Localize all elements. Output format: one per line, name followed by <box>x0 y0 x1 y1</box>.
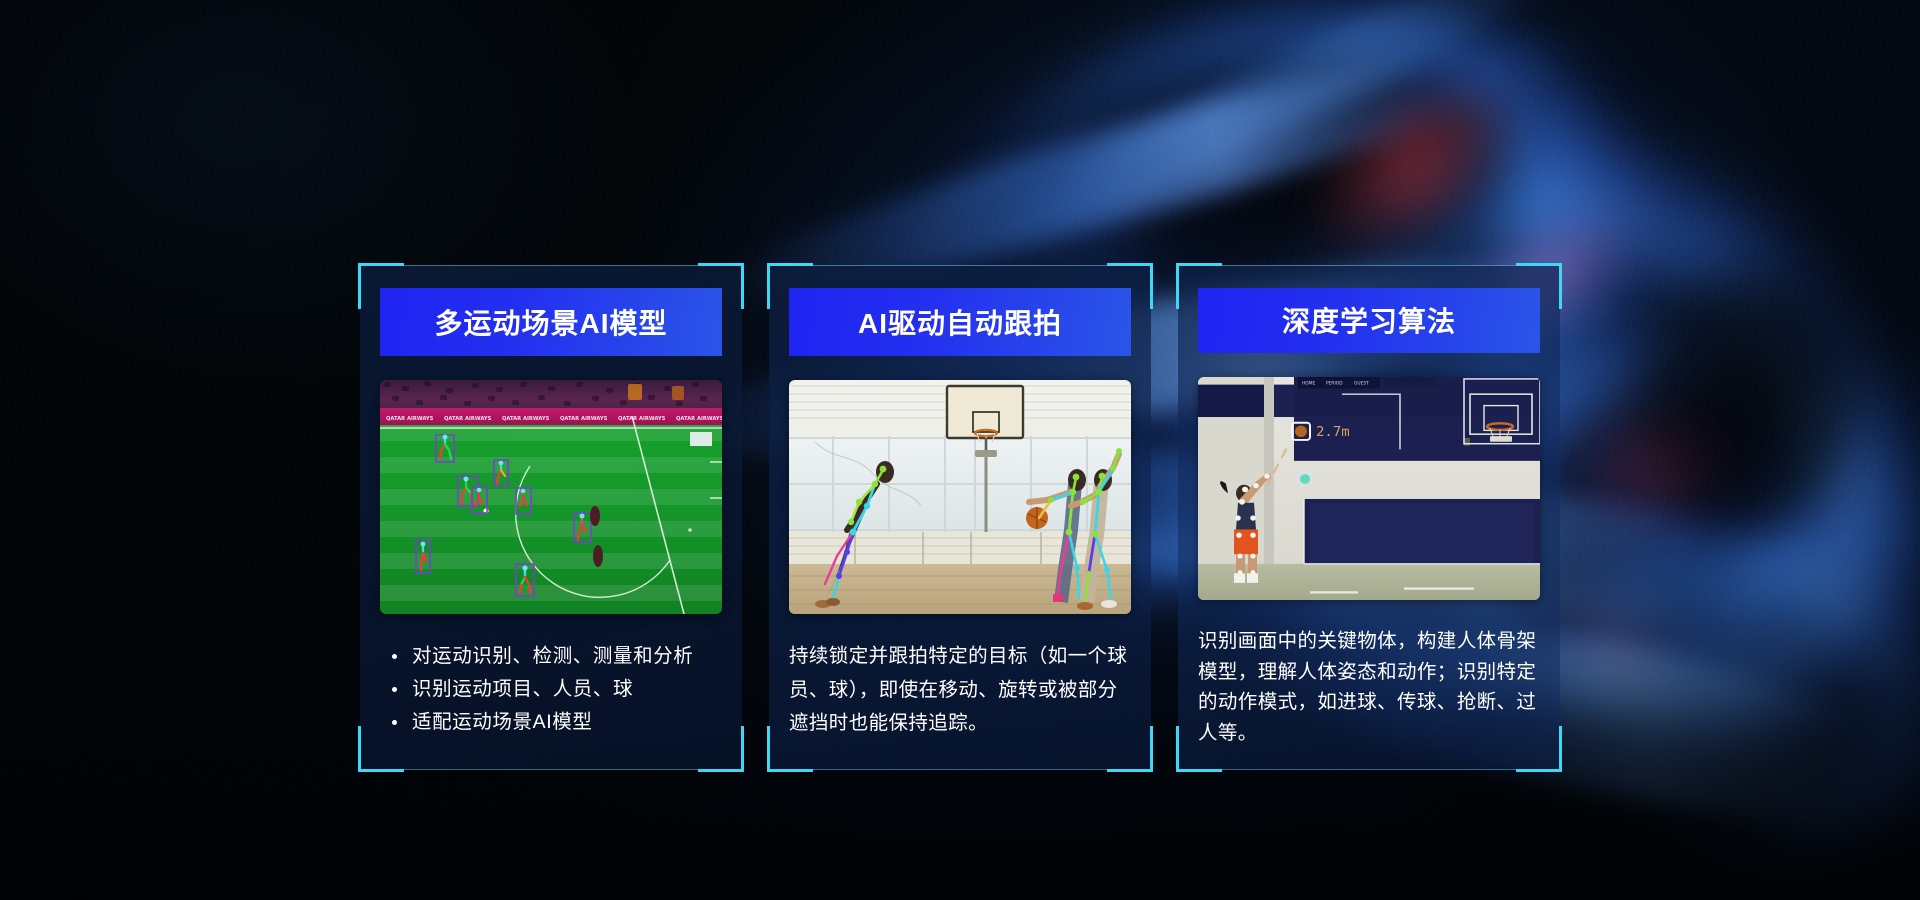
basketball-gym-skeleton-thumbnail[interactable] <box>789 380 1131 614</box>
capability-description: 识别画面中的关键物体，构建人体骨架模型，理解人体姿态和动作；识别特定的动作模式，… <box>1198 626 1540 749</box>
shot-tracking-measurement-thumbnail[interactable]: HOMEPERIODGUEST <box>1198 377 1540 600</box>
card-title-banner: 多运动场景AI模型 <box>380 288 722 356</box>
soccer-pose-detection-thumbnail[interactable]: QATAR AIRWAYS QATAR AIRWAYS QATAR AIRWAY… <box>380 380 722 614</box>
card-title-banner: 深度学习算法 <box>1198 288 1540 353</box>
list-item: 识别运动项目、人员、球 <box>386 673 722 706</box>
card-title-banner: AI驱动自动跟拍 <box>789 288 1131 356</box>
card-body: 对运动识别、检测、测量和分析 识别运动项目、人员、球 适配运动场景AI模型 <box>380 640 722 749</box>
card-body: 识别画面中的关键物体，构建人体骨架模型，理解人体姿态和动作；识别特定的动作模式，… <box>1198 626 1540 749</box>
distance-annotation-label: 2.7m <box>1316 424 1350 440</box>
feature-card-deep-learning-algorithm[interactable]: 深度学习算法 <box>1178 265 1560 770</box>
capability-bullet-list: 对运动识别、检测、测量和分析 识别运动项目、人员、球 适配运动场景AI模型 <box>380 640 722 738</box>
feature-card-multi-sport-ai-model[interactable]: 多运动场景AI模型 <box>360 265 742 770</box>
svg-text:QATAR AIRWAYS: QATAR AIRWAYS <box>386 416 434 422</box>
feature-card-row: 多运动场景AI模型 <box>360 265 1560 770</box>
svg-text:QATAR AIRWAYS: QATAR AIRWAYS <box>502 416 550 422</box>
card-body: 持续锁定并跟拍特定的目标（如一个球员、球），即使在移动、旋转或被部分遮挡时也能保… <box>789 640 1131 749</box>
list-item: 适配运动场景AI模型 <box>386 706 722 739</box>
svg-text:QATAR AIRWAYS: QATAR AIRWAYS <box>676 416 722 422</box>
svg-text:HOME: HOME <box>1302 381 1316 387</box>
card-title-text: 多运动场景AI模型 <box>434 302 667 342</box>
svg-text:QATAR AIRWAYS: QATAR AIRWAYS <box>618 416 666 422</box>
list-item: 对运动识别、检测、测量和分析 <box>386 640 722 673</box>
svg-text:PERIOD: PERIOD <box>1326 381 1343 387</box>
svg-text:QATAR AIRWAYS: QATAR AIRWAYS <box>560 416 608 422</box>
card-title-text: AI驱动自动跟拍 <box>858 302 1062 342</box>
slide-canvas: 多运动场景AI模型 <box>0 0 1920 900</box>
card-title-text: 深度学习算法 <box>1282 300 1456 340</box>
capability-description: 持续锁定并跟拍特定的目标（如一个球员、球），即使在移动、旋转或被部分遮挡时也能保… <box>789 640 1131 741</box>
feature-card-ai-auto-tracking[interactable]: AI驱动自动跟拍 <box>769 265 1151 770</box>
svg-text:QATAR AIRWAYS: QATAR AIRWAYS <box>444 416 492 422</box>
svg-text:GUEST: GUEST <box>1354 381 1369 387</box>
